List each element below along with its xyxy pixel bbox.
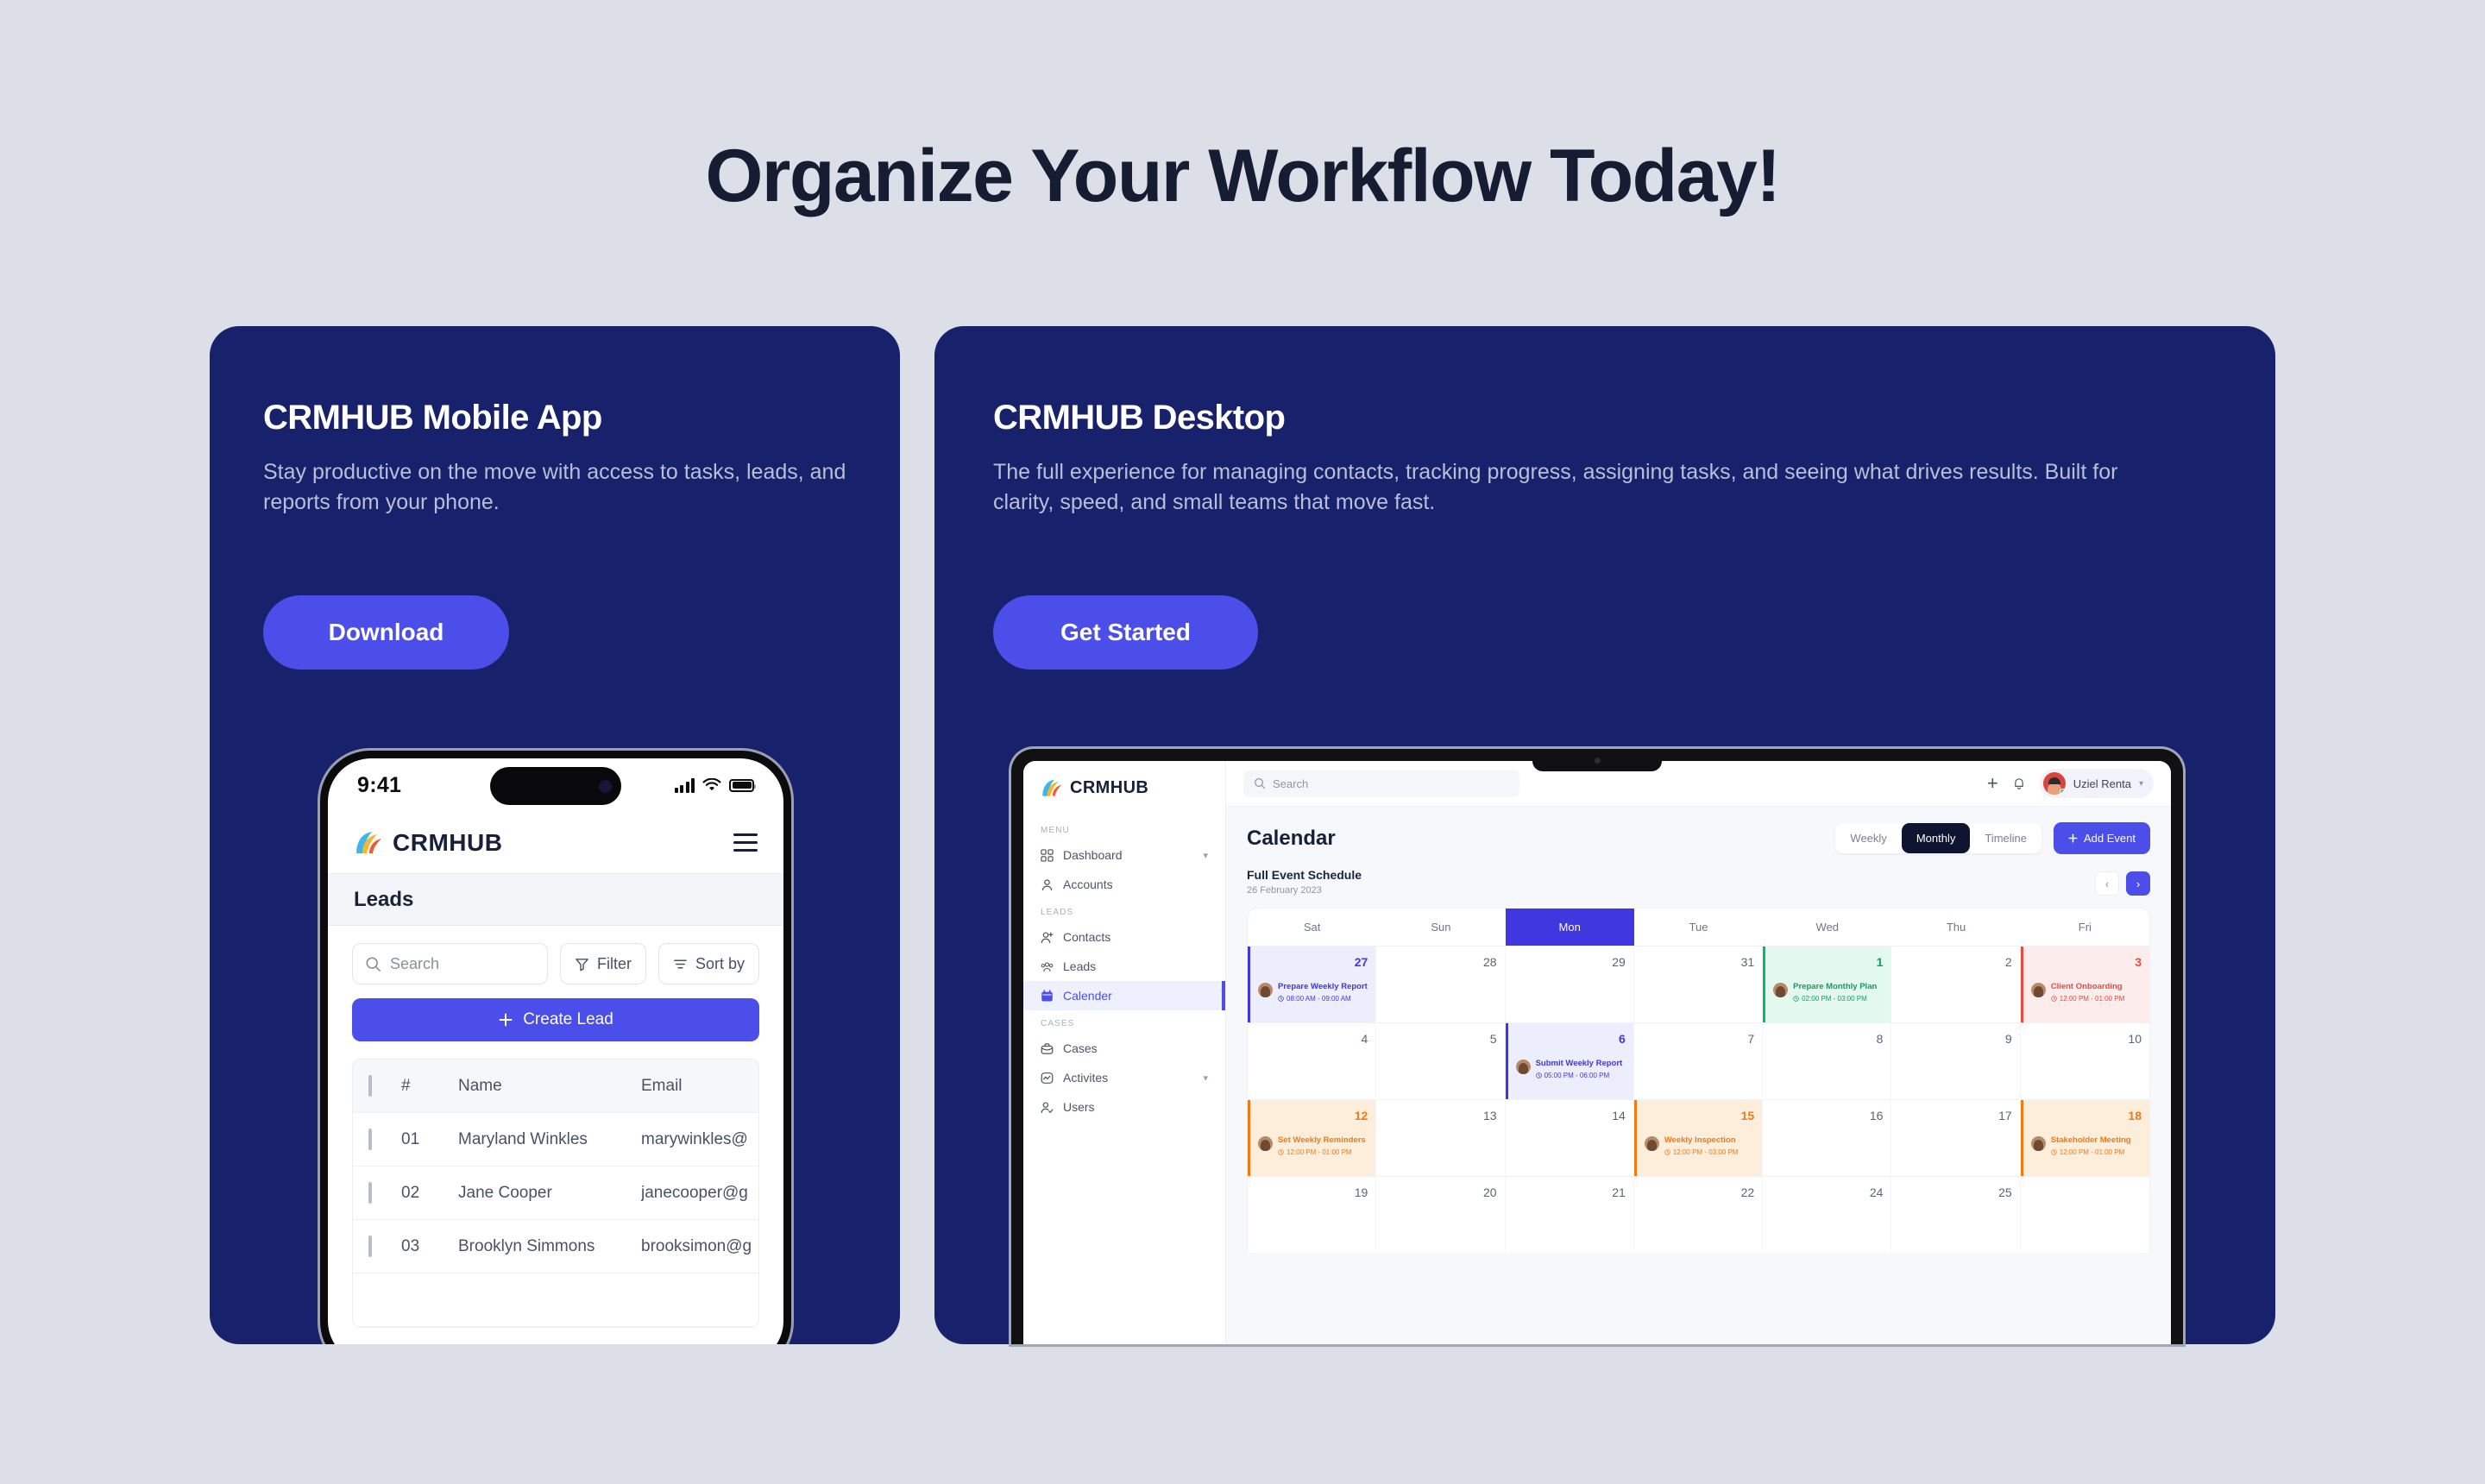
select-all-checkbox[interactable] — [353, 1077, 401, 1096]
row-checkbox[interactable] — [353, 1130, 401, 1149]
front-camera-icon — [599, 780, 612, 793]
calendar-week-row: 27Prepare Weekly Report08:00 AM - 09:00 … — [1248, 946, 2149, 1022]
calendar-day-cell[interactable]: 9 — [1891, 1023, 2020, 1099]
sidebar-item-label: Users — [1063, 1100, 1095, 1114]
calendar-event[interactable]: Prepare Monthly Plan02:00 PM - 03:00 PM — [1773, 978, 1883, 1003]
event-time: 12:00 PM - 03:00 PM — [1664, 1148, 1739, 1156]
user-check-icon — [1041, 1101, 1054, 1114]
calendar-day-cell[interactable]: 16 — [1763, 1100, 1891, 1176]
table-row[interactable]: 02 Jane Cooper janecooper@g — [353, 1166, 758, 1220]
plus-icon — [2068, 833, 2078, 843]
phone-page-header: Leads — [328, 874, 783, 926]
event-time: 12:00 PM - 01:00 PM — [1278, 1148, 1366, 1156]
day-number: 5 — [1384, 1032, 1496, 1046]
calendar-weeks: 27Prepare Weekly Report08:00 AM - 09:00 … — [1248, 946, 2149, 1253]
calendar-day-cell[interactable]: 12Set Weekly Reminders12:00 PM - 01:00 P… — [1248, 1100, 1376, 1176]
filter-button[interactable]: Filter — [560, 943, 646, 984]
day-number: 20 — [1384, 1185, 1496, 1199]
day-number: 10 — [2029, 1032, 2142, 1046]
bell-icon[interactable] — [2012, 777, 2026, 790]
user-plus-icon — [1041, 931, 1054, 944]
desktop-topbar: Search + Uziel Renta — [1226, 761, 2171, 807]
filter-icon — [575, 957, 589, 972]
briefcase-icon — [1041, 1042, 1054, 1055]
sidebar-item-label: Activites — [1063, 1071, 1108, 1085]
phone-brand-name: CRMHUB — [393, 829, 502, 857]
next-month-button[interactable]: › — [2126, 871, 2150, 896]
row-name: Maryland Winkles — [458, 1130, 641, 1149]
calendar-weekday-header: Sat Sun Mon Tue Wed Thu Fri — [1248, 909, 2149, 946]
laptop-camera-icon — [1595, 758, 1601, 764]
tab-weekly[interactable]: Weekly — [1835, 823, 1901, 853]
calendar-day-cell[interactable]: 24 — [1763, 1177, 1891, 1253]
day-number: 31 — [1642, 955, 1754, 969]
day-number: 16 — [1771, 1109, 1883, 1122]
search-icon — [1254, 777, 1266, 789]
clock-icon — [1278, 996, 1284, 1002]
tab-timeline[interactable]: Timeline — [1970, 823, 2041, 853]
event-title: Submit Weekly Report — [1536, 1059, 1623, 1068]
users-icon — [1041, 960, 1054, 973]
chevron-down-icon: ▾ — [1203, 1072, 1208, 1084]
clock-icon — [1536, 1072, 1542, 1078]
event-time: 12:00 PM - 01:00 PM — [2051, 995, 2125, 1003]
day-number: 7 — [1642, 1032, 1754, 1046]
event-avatar — [1516, 1060, 1531, 1074]
row-email: brooksimon@g — [641, 1237, 758, 1256]
calendar-day-cell[interactable]: 13 — [1376, 1100, 1505, 1176]
event-avatar — [2031, 983, 2046, 997]
desktop-card-title: CRMHUB Desktop — [993, 399, 1285, 437]
desktop-search-input[interactable]: Search — [1243, 770, 1519, 797]
chevron-down-icon: ▾ — [1203, 850, 1208, 861]
row-email: marywinkles@ — [641, 1130, 758, 1149]
desktop-brand-name: CRMHUB — [1070, 778, 1148, 798]
user-icon — [1041, 878, 1054, 891]
download-button[interactable]: Download — [263, 595, 509, 670]
weekday-wed: Wed — [1763, 909, 1891, 946]
event-title: Stakeholder Meeting — [2051, 1135, 2131, 1145]
row-num: 01 — [401, 1130, 458, 1149]
day-number: 13 — [1384, 1109, 1496, 1122]
row-num: 02 — [401, 1184, 458, 1203]
phone-app-topbar: CRMHUB — [328, 812, 783, 874]
calendar-day-cell[interactable]: 31 — [1634, 946, 1763, 1022]
avatar — [2043, 772, 2066, 795]
calendar-icon — [1041, 990, 1054, 1003]
event-avatar — [1645, 1136, 1659, 1151]
calendar-week-row: 12Set Weekly Reminders12:00 PM - 01:00 P… — [1248, 1099, 2149, 1176]
calendar-week-row: 456Submit Weekly Report05:00 PM - 06:00 … — [1248, 1022, 2149, 1099]
weekday-mon: Mon — [1506, 909, 1634, 946]
calendar-day-cell[interactable]: 4 — [1248, 1023, 1376, 1099]
mobile-card-subtitle: Stay productive on the move with access … — [263, 457, 859, 517]
calendar-day-cell[interactable]: 6Submit Weekly Report05:00 PM - 06:00 PM — [1506, 1023, 1634, 1099]
event-avatar — [1258, 1136, 1273, 1151]
sidebar-item-cases[interactable]: Cases — [1023, 1034, 1225, 1063]
sidebar-group-label: MENU — [1023, 817, 1225, 840]
desktop-card-subtitle: The full experience for managing contact… — [993, 457, 2184, 517]
day-number: 22 — [1642, 1185, 1754, 1199]
add-event-button[interactable]: Add Event — [2054, 822, 2150, 854]
sidebar-item-label: Cases — [1063, 1041, 1098, 1055]
filter-label: Filter — [597, 955, 632, 973]
day-number: 18 — [2031, 1109, 2142, 1122]
event-avatar — [2031, 1136, 2046, 1151]
day-number: 9 — [1899, 1032, 2011, 1046]
day-number: 3 — [2031, 955, 2142, 969]
calendar-day-cell[interactable] — [2021, 1177, 2149, 1253]
sidebar-item-dashboard[interactable]: Dashboard ▾ — [1023, 840, 1225, 870]
row-num: 03 — [401, 1237, 458, 1256]
col-header-email: Email — [641, 1077, 758, 1096]
leads-table-header: # Name Email — [353, 1060, 758, 1113]
weekday-sun: Sun — [1376, 909, 1505, 946]
day-number: 8 — [1771, 1032, 1883, 1046]
event-avatar — [1258, 983, 1273, 997]
status-time: 9:41 — [357, 773, 401, 798]
event-avatar — [1773, 983, 1788, 997]
sort-label: Sort by — [695, 955, 745, 973]
day-number: 12 — [1258, 1109, 1368, 1122]
grid-icon — [1041, 849, 1054, 862]
calendar-nav: ‹ › — [2095, 871, 2150, 896]
sidebar-item-contacts[interactable]: Contacts — [1023, 922, 1225, 952]
calendar-event[interactable]: Submit Weekly Report05:00 PM - 06:00 PM — [1516, 1054, 1626, 1079]
wifi-icon — [702, 778, 721, 792]
day-number: 28 — [1384, 955, 1496, 969]
calendar-day-cell[interactable]: 25 — [1891, 1177, 2020, 1253]
day-number: 29 — [1513, 955, 1626, 969]
sidebar-item-label: Accounts — [1063, 877, 1113, 891]
phone-brand: CRMHUB — [354, 829, 502, 857]
event-title: Weekly Inspection — [1664, 1135, 1736, 1145]
calendar-day-cell[interactable]: 5 — [1376, 1023, 1505, 1099]
page-title: Organize Your Workflow Today! — [0, 134, 2485, 219]
sidebar-item-users[interactable]: Users — [1023, 1092, 1225, 1122]
sidebar-group-label: CASES — [1023, 1010, 1225, 1034]
sidebar-item-accounts[interactable]: Accounts — [1023, 870, 1225, 899]
laptop-mockup: CRMHUB MENU Dashboard ▾ — [1011, 749, 2183, 1344]
tab-monthly[interactable]: Monthly — [1902, 823, 1971, 853]
calendar-day-cell[interactable]: 3Client Onboarding12:00 PM - 01:00 PM — [2021, 946, 2149, 1022]
phone-toolbar: Search Filter Sort b — [328, 926, 783, 984]
row-name: Brooklyn Simmons — [458, 1237, 641, 1256]
day-number: 4 — [1255, 1032, 1368, 1046]
calendar-event[interactable]: Client Onboarding12:00 PM - 01:00 PM — [2031, 978, 2142, 1003]
day-number: 17 — [1899, 1109, 2011, 1122]
day-number: 24 — [1771, 1185, 1883, 1199]
search-icon — [365, 956, 381, 972]
desktop-main: Search + Uziel Renta — [1226, 761, 2171, 1344]
calendar-week-row: 192021222425 — [1248, 1176, 2149, 1253]
prev-month-button[interactable]: ‹ — [2095, 871, 2119, 896]
plus-icon — [498, 1012, 513, 1028]
event-title: Client Onboarding — [2051, 982, 2123, 991]
calendar-title: Calendar — [1247, 827, 1336, 851]
chevron-down-icon: ▾ — [2139, 779, 2143, 789]
day-number: 27 — [1258, 955, 1368, 969]
day-number: 14 — [1513, 1109, 1626, 1122]
calendar-day-cell[interactable]: 14 — [1506, 1100, 1634, 1176]
calendar-event[interactable]: Prepare Weekly Report08:00 AM - 09:00 AM — [1258, 978, 1368, 1003]
clock-icon — [1278, 1149, 1284, 1155]
calendar-day-cell[interactable]: 17 — [1891, 1100, 2020, 1176]
event-time: 12:00 PM - 01:00 PM — [2051, 1148, 2131, 1156]
day-number: 2 — [1899, 955, 2011, 969]
calendar-day-cell[interactable]: 28 — [1376, 946, 1505, 1022]
col-header-name: Name — [458, 1077, 641, 1096]
crmhub-logo-icon — [1041, 778, 1063, 798]
calendar-page: Calendar Weekly Monthly Timeline Add Eve… — [1226, 807, 2171, 1344]
row-checkbox[interactable] — [353, 1184, 401, 1203]
dynamic-island — [490, 767, 621, 805]
day-number: 6 — [1516, 1032, 1626, 1046]
leads-table: # Name Email 01 Maryland Winkles marywin… — [352, 1059, 759, 1328]
schedule-date: 26 February 2023 — [1247, 885, 1362, 896]
clock-icon — [2051, 1149, 2057, 1155]
sidebar-item-leads[interactable]: Leads — [1023, 952, 1225, 981]
search-input[interactable]: Search — [352, 943, 548, 984]
calendar-event[interactable]: Set Weekly Reminders12:00 PM - 01:00 PM — [1258, 1131, 1368, 1156]
calendar-grid: Sat Sun Mon Tue Wed Thu Fri 27Prepare We… — [1247, 908, 2150, 1253]
phone-status-bar: 9:41 — [328, 758, 783, 812]
clock-icon — [2051, 996, 2057, 1002]
sort-button[interactable]: Sort by — [658, 943, 759, 984]
phone-screen: 9:41 — [328, 758, 783, 1344]
event-title: Prepare Monthly Plan — [1793, 982, 1877, 991]
create-lead-label: Create Lead — [523, 1010, 613, 1029]
add-event-label: Add Event — [2084, 832, 2136, 845]
day-number: 25 — [1899, 1185, 2011, 1199]
sidebar-item-label: Calender — [1063, 989, 1112, 1003]
cellular-bars-icon — [675, 778, 695, 793]
calendar-day-cell[interactable]: 20 — [1376, 1177, 1505, 1253]
sort-icon — [673, 957, 688, 972]
laptop-screen: CRMHUB MENU Dashboard ▾ — [1023, 761, 2171, 1344]
event-title: Prepare Weekly Report — [1278, 982, 1368, 991]
calendar-header-row: Calendar Weekly Monthly Timeline Add Eve… — [1247, 822, 2150, 854]
day-number: 15 — [1645, 1109, 1754, 1122]
hamburger-menu-icon[interactable] — [733, 833, 758, 852]
get-started-button[interactable]: Get Started — [993, 595, 1258, 670]
schedule-subheader: Full Event Schedule 26 February 2023 ‹ › — [1247, 868, 2150, 896]
calendar-day-cell[interactable]: 2 — [1891, 946, 2020, 1022]
battery-icon — [729, 779, 754, 792]
clock-icon — [1664, 1149, 1670, 1155]
event-title: Set Weekly Reminders — [1278, 1135, 1366, 1145]
event-time: 05:00 PM - 06:00 PM — [1536, 1072, 1623, 1079]
row-name: Jane Cooper — [458, 1184, 641, 1203]
clock-icon — [1793, 996, 1799, 1002]
user-menu[interactable]: Uziel Renta ▾ — [2040, 769, 2154, 798]
calendar-day-cell[interactable]: 19 — [1248, 1177, 1376, 1253]
online-status-dot — [2060, 789, 2066, 795]
sidebar-item-activites[interactable]: Activites ▾ — [1023, 1063, 1225, 1092]
calendar-day-cell[interactable]: 7 — [1634, 1023, 1763, 1099]
page-root: Organize Your Workflow Today! CRMHUB Mob… — [0, 0, 2485, 1484]
weekday-tue: Tue — [1634, 909, 1763, 946]
phone-page-title: Leads — [354, 888, 413, 912]
col-header-num: # — [401, 1077, 458, 1096]
calendar-day-cell[interactable]: 22 — [1634, 1177, 1763, 1253]
schedule-title: Full Event Schedule — [1247, 868, 1362, 882]
sidebar-item-label: Leads — [1063, 959, 1096, 973]
sidebar-group-label: LEADS — [1023, 899, 1225, 922]
table-row[interactable]: 01 Maryland Winkles marywinkles@ — [353, 1113, 758, 1166]
mobile-card-title: CRMHUB Mobile App — [263, 399, 602, 437]
sidebar-item-label: Dashboard — [1063, 848, 1123, 862]
event-time: 02:00 PM - 03:00 PM — [1793, 995, 1877, 1003]
desktop-topbar-actions: + Uziel Renta ▾ — [1987, 769, 2154, 798]
calendar-day-cell[interactable]: 21 — [1506, 1177, 1634, 1253]
weekday-sat: Sat — [1248, 909, 1376, 946]
calendar-day-cell[interactable]: 29 — [1506, 946, 1634, 1022]
table-row[interactable]: 03 Brooklyn Simmons brooksimon@g — [353, 1220, 758, 1273]
row-email: janecooper@g — [641, 1184, 758, 1203]
sidebar-item-label: Contacts — [1063, 930, 1110, 944]
create-lead-button[interactable]: Create Lead — [352, 998, 759, 1041]
plus-icon[interactable]: + — [1987, 774, 1998, 793]
laptop-notch — [1532, 749, 1662, 771]
phone-mockup: 9:41 — [320, 751, 791, 1344]
day-number: 21 — [1513, 1185, 1626, 1199]
calendar-day-cell[interactable]: 1Prepare Monthly Plan02:00 PM - 03:00 PM — [1763, 946, 1891, 1022]
weekday-thu: Thu — [1891, 909, 2020, 946]
calendar-event[interactable]: Stakeholder Meeting12:00 PM - 01:00 PM — [2031, 1131, 2142, 1156]
view-switcher: Weekly Monthly Timeline — [1835, 823, 2041, 853]
status-icons — [675, 778, 755, 793]
search-placeholder: Search — [390, 955, 439, 973]
day-number: 1 — [1773, 955, 1883, 969]
weekday-fri: Fri — [2021, 909, 2149, 946]
desktop-search-placeholder: Search — [1273, 777, 1308, 790]
calendar-day-cell[interactable]: 8 — [1763, 1023, 1891, 1099]
sidebar-item-calender[interactable]: Calender — [1023, 981, 1225, 1010]
mobile-app-card: CRMHUB Mobile App Stay productive on the… — [210, 326, 900, 1344]
table-row[interactable] — [353, 1273, 758, 1327]
event-time: 08:00 AM - 09:00 AM — [1278, 995, 1368, 1003]
crmhub-logo-icon — [354, 830, 383, 856]
calendar-day-cell[interactable]: 18Stakeholder Meeting12:00 PM - 01:00 PM — [2021, 1100, 2149, 1176]
desktop-brand: CRMHUB — [1023, 773, 1225, 817]
calendar-day-cell[interactable]: 10 — [2021, 1023, 2149, 1099]
calendar-day-cell[interactable]: 15Weekly Inspection12:00 PM - 03:00 PM — [1634, 1100, 1763, 1176]
activity-icon — [1041, 1072, 1054, 1085]
row-checkbox[interactable] — [353, 1237, 401, 1256]
calendar-event[interactable]: Weekly Inspection12:00 PM - 03:00 PM — [1645, 1131, 1754, 1156]
desktop-sidebar: CRMHUB MENU Dashboard ▾ — [1023, 761, 1226, 1344]
day-number: 19 — [1255, 1185, 1368, 1199]
user-name: Uziel Renta — [2073, 777, 2131, 790]
calendar-day-cell[interactable]: 27Prepare Weekly Report08:00 AM - 09:00 … — [1248, 946, 1376, 1022]
